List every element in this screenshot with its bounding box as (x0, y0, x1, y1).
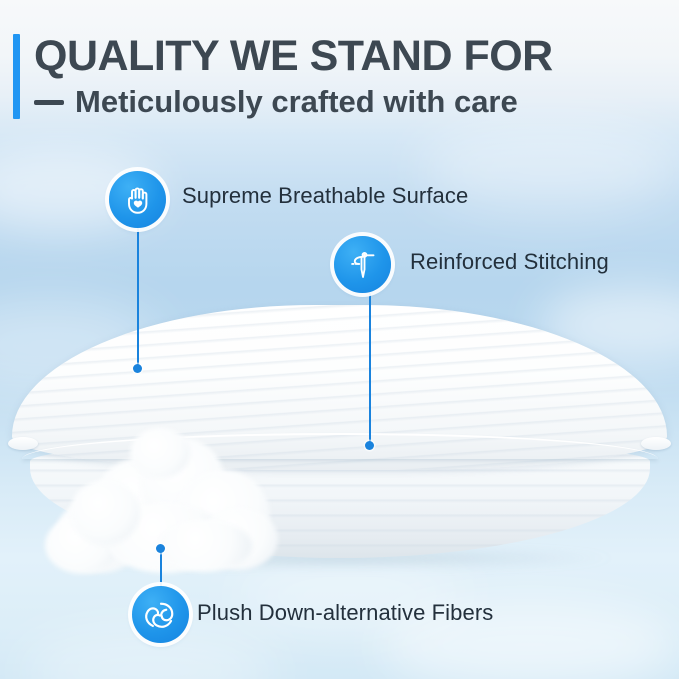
leader-line-feature-1 (137, 228, 139, 368)
pillow-corner-tab-right (641, 437, 671, 450)
leader-dot-feature-3 (156, 544, 165, 553)
feature-badge-stitching[interactable] (334, 236, 391, 293)
subtitle-group: Meticulously crafted with care (34, 84, 518, 120)
leader-line-feature-3 (160, 549, 162, 587)
hand-heart-icon (120, 182, 156, 218)
fiber-swirl-icon (143, 597, 179, 633)
page-subtitle: Meticulously crafted with care (75, 84, 518, 120)
accent-bar (13, 34, 20, 119)
leader-line-feature-2 (369, 293, 371, 445)
page-title: QUALITY WE STAND FOR (34, 31, 553, 81)
feature-label-fibers: Plush Down-alternative Fibers (197, 600, 493, 626)
needle-thread-icon (345, 247, 381, 283)
marketing-infographic: QUALITY WE STAND FOR Meticulously crafte… (0, 0, 679, 679)
feature-badge-breathable[interactable] (109, 171, 166, 228)
feature-badge-fibers[interactable] (132, 586, 189, 643)
feature-label-breathable: Supreme Breathable Surface (182, 183, 468, 209)
leader-dot-feature-1 (133, 364, 142, 373)
leader-dot-feature-2 (365, 441, 374, 450)
header: QUALITY WE STAND FOR Meticulously crafte… (0, 0, 679, 140)
em-dash-rule (34, 100, 64, 105)
feature-label-stitching: Reinforced Stitching (410, 249, 609, 275)
pillow-corner-tab-left (8, 437, 38, 450)
